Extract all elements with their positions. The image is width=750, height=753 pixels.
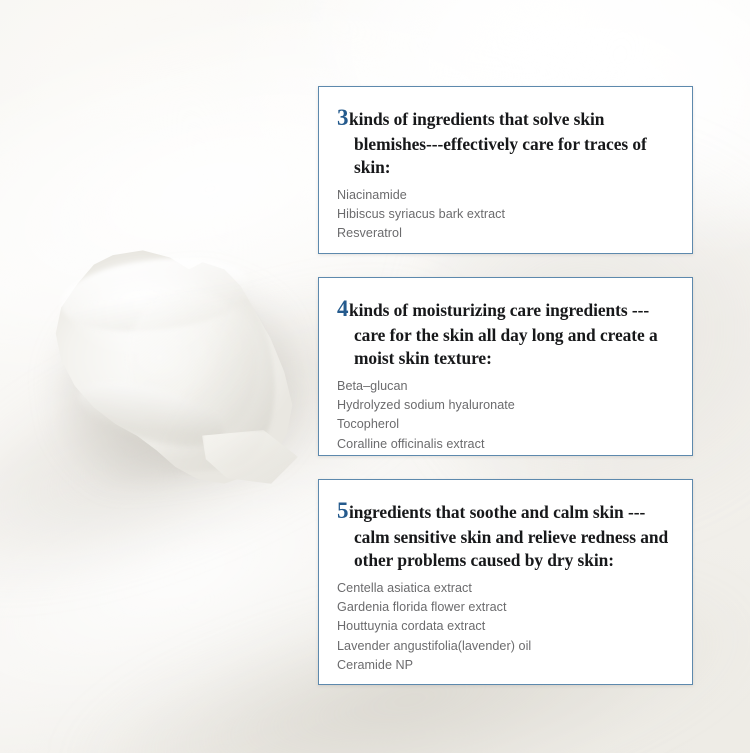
card-number: 4	[337, 296, 349, 321]
ingredient-item: Houttuynia cordata extract	[337, 617, 674, 636]
card-heading: 4kinds of moisturizing care ingredients …	[337, 294, 674, 370]
ingredient-list: Centella asiatica extract Gardenia flori…	[337, 579, 674, 675]
ingredient-card: 5ingredients that soothe and calm skin -…	[318, 479, 693, 685]
ingredient-item: Lavender angustifolia(lavender) oil	[337, 637, 674, 656]
ingredient-item: Coralline officinalis extract	[337, 435, 674, 454]
ingredient-item: Centella asiatica extract	[337, 579, 674, 598]
ingredient-item: Ceramide NP	[337, 656, 674, 675]
cream-swatch-dollop	[34, 248, 306, 486]
product-ingredient-poster: 3kinds of ingredients that solve skin bl…	[0, 0, 750, 753]
ingredient-item: Hibiscus syriacus bark extract	[337, 205, 674, 224]
ingredient-card: 3kinds of ingredients that solve skin bl…	[318, 86, 693, 254]
ingredient-item: Tocopherol	[337, 415, 674, 434]
card-heading-text: ingredients that soothe and calm skin --…	[349, 502, 668, 570]
ingredient-item: Gardenia florida flower extract	[337, 598, 674, 617]
ingredient-item: Beta–glucan	[337, 377, 674, 396]
ingredient-list: Niacinamide Hibiscus syriacus bark extra…	[337, 186, 674, 244]
ingredient-card-list: 3kinds of ingredients that solve skin bl…	[318, 86, 693, 685]
ingredient-list: Beta–glucan Hydrolyzed sodium hyaluronat…	[337, 377, 674, 454]
card-heading-text: kinds of ingredients that solve skin ble…	[349, 109, 647, 177]
card-number: 5	[337, 498, 349, 523]
ingredient-item: Resveratrol	[337, 224, 674, 243]
card-number: 3	[337, 105, 349, 130]
ingredient-item: Hydrolyzed sodium hyaluronate	[337, 396, 674, 415]
card-heading: 3kinds of ingredients that solve skin bl…	[337, 103, 674, 179]
ingredient-card: 4kinds of moisturizing care ingredients …	[318, 277, 693, 456]
card-heading-text: kinds of moisturizing care ingredients -…	[349, 300, 658, 368]
card-heading: 5ingredients that soothe and calm skin -…	[337, 496, 674, 572]
ingredient-item: Niacinamide	[337, 186, 674, 205]
